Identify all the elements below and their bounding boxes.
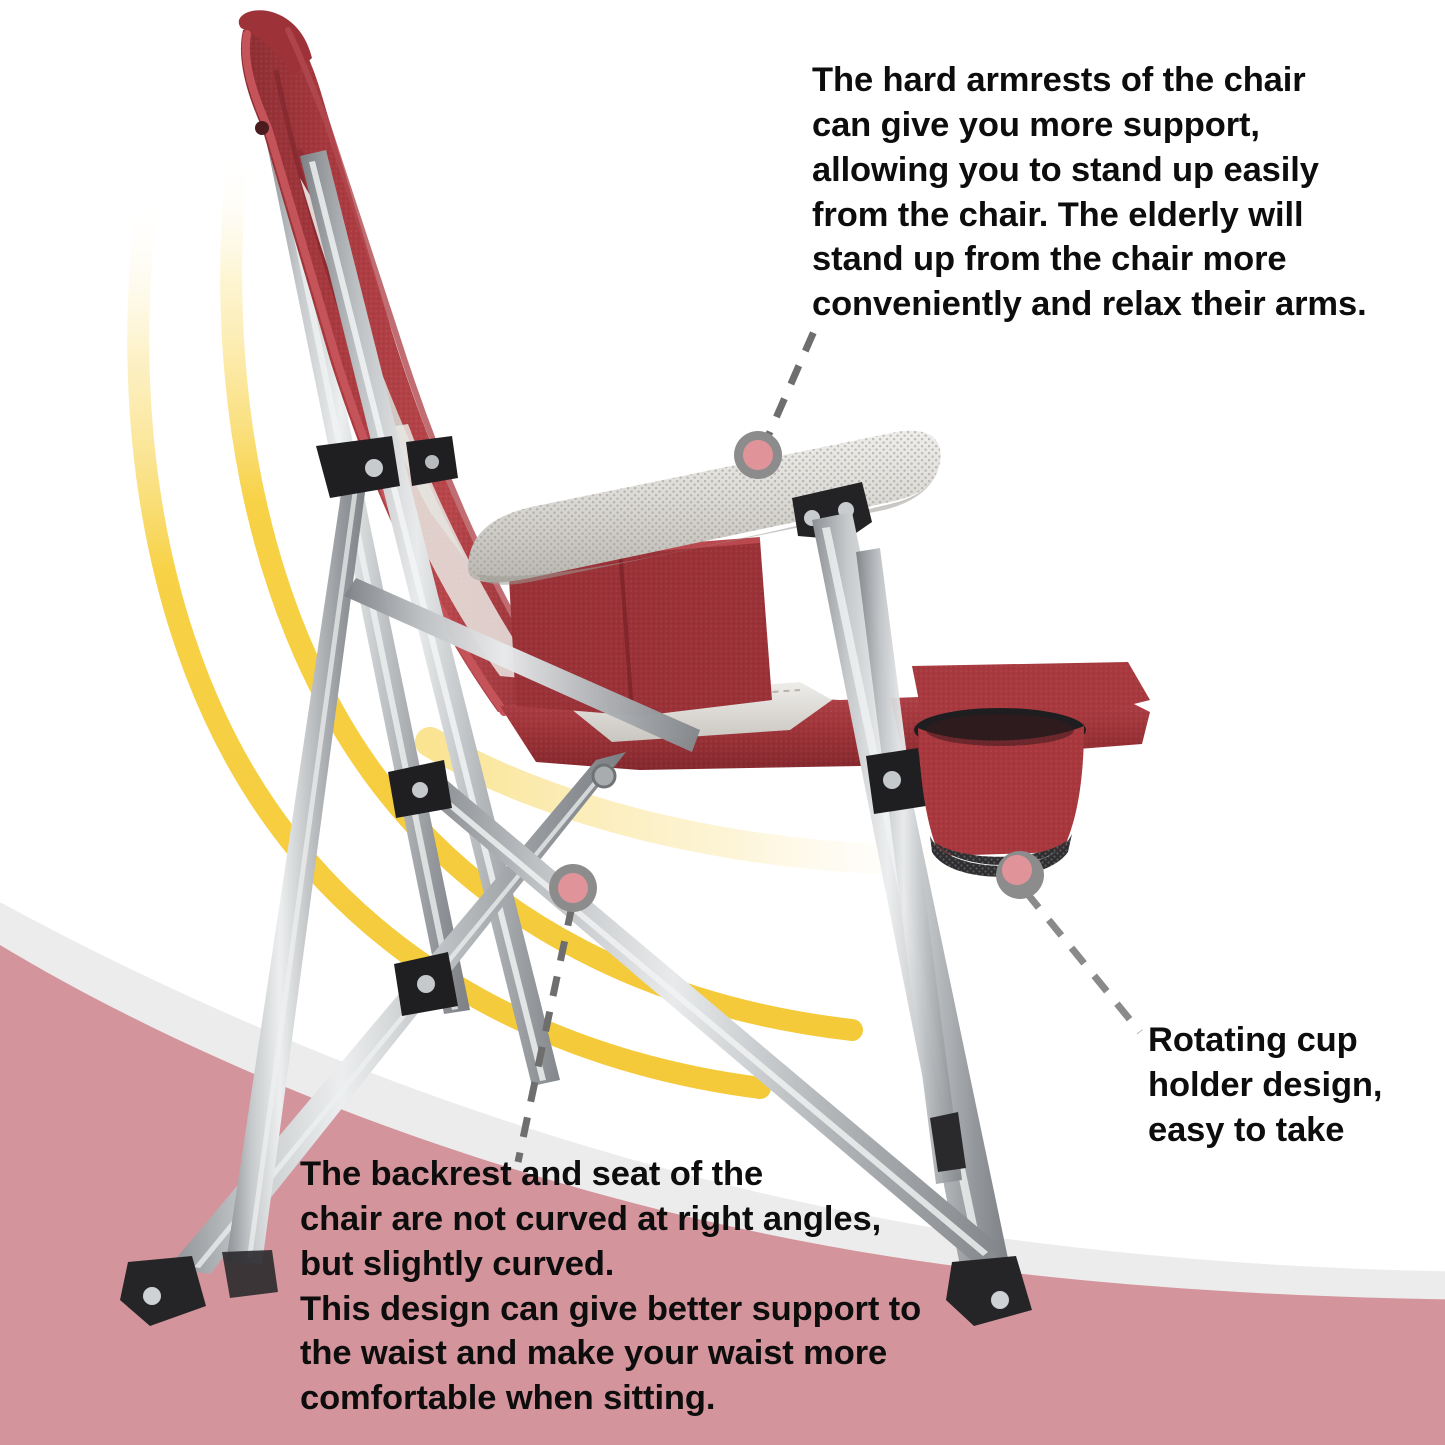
leader-line-backrest[interactable] — [518, 906, 572, 1162]
leader-line-armrest[interactable] — [762, 322, 818, 450]
leader-line-cup-holder[interactable] — [1026, 892, 1140, 1032]
marker-cup-holder[interactable] — [996, 851, 1044, 899]
marker-cup-dot — [1002, 855, 1032, 885]
callout-text-cup-holder: Rotating cup holder design, easy to take — [1148, 1018, 1408, 1153]
callout-text-backrest: The backrest and seat of the chair are n… — [300, 1152, 930, 1421]
product-infographic: The hard armrests of the chair can give … — [0, 0, 1445, 1445]
marker-armrest-dot — [743, 440, 773, 470]
marker-backrest-dot — [558, 873, 588, 903]
marker-backrest-seat[interactable] — [549, 864, 597, 912]
marker-armrest[interactable] — [734, 431, 782, 479]
callout-text-armrest: The hard armrests of the chair can give … — [812, 58, 1378, 327]
